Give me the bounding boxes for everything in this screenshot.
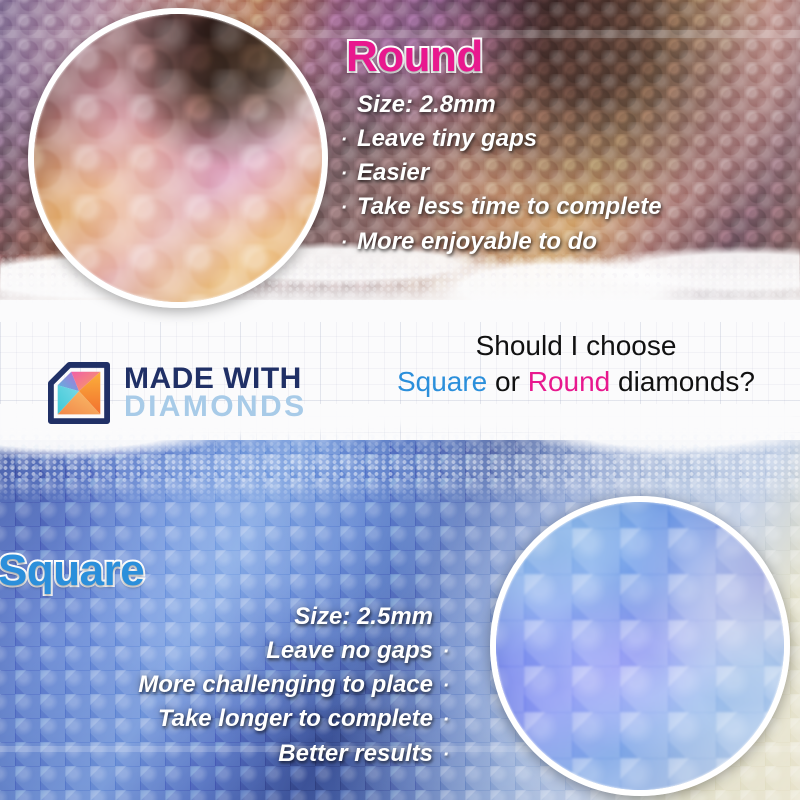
macro-blur-overlay (496, 502, 784, 790)
headline-question: Should I choose Square or Round diamonds… (352, 328, 800, 401)
bullet-icon: · (442, 745, 450, 765)
brand-name-line1: MADE WITH (124, 365, 307, 393)
bullet-icon: · (442, 642, 450, 662)
list-item: · Take less time to complete (340, 190, 790, 224)
square-feature-label: Better results (278, 737, 433, 771)
bullet-icon: · (340, 130, 348, 150)
list-item: · Leave tiny gaps (340, 122, 790, 156)
round-feature-label: Take less time to complete (357, 190, 662, 224)
square-size-row: Size: 2.5mm · (0, 600, 450, 634)
bullet-icon: · (442, 710, 450, 730)
bullet-icon: · (340, 198, 348, 218)
bullet-icon: · (442, 676, 450, 696)
square-size-label: Size: 2.5mm (294, 600, 433, 634)
headline-line1: Should I choose (352, 328, 800, 364)
round-feature-label: Easier (357, 156, 429, 190)
list-item: Take longer to complete · (0, 702, 450, 736)
round-drill-closeup-inset (28, 8, 328, 308)
headline-round-word: Round (528, 366, 611, 397)
square-drill-closeup-inset (490, 496, 790, 796)
round-section: Round · Size: 2.8mm · Leave tiny gaps · … (340, 34, 790, 259)
brand-logo: MADE WITH DIAMONDS (48, 362, 307, 424)
brand-name-line2: DIAMONDS (124, 393, 307, 421)
round-feature-label: More enjoyable to do (357, 225, 597, 259)
diamond-painting-comparison-infographic: Round · Size: 2.8mm · Leave tiny gaps · … (0, 0, 800, 800)
round-size-row: · Size: 2.8mm (340, 88, 790, 122)
headline-tail: diamonds? (610, 366, 755, 397)
square-feature-label: Leave no gaps (266, 634, 433, 668)
round-size-label: Size: 2.8mm (357, 88, 496, 122)
list-item: · Easier (340, 156, 790, 190)
list-item: Better results · (0, 737, 450, 771)
macro-blur-overlay (34, 14, 322, 302)
square-feature-label: More challenging to place (138, 668, 433, 702)
square-feature-list: Size: 2.5mm · Leave no gaps · More chall… (0, 600, 450, 770)
square-feature-label: Take longer to complete (158, 702, 433, 736)
square-section: Square Size: 2.5mm · Leave no gaps · Mor… (0, 548, 450, 771)
list-item: Leave no gaps · (0, 634, 450, 668)
list-item: More challenging to place · (0, 668, 450, 702)
round-feature-list: · Size: 2.8mm · Leave tiny gaps · Easier… (340, 88, 790, 258)
list-item: · More enjoyable to do (340, 225, 790, 259)
diamond-gem-icon (48, 362, 110, 424)
headline-square-word: Square (397, 366, 487, 397)
bullet-icon: · (340, 164, 348, 184)
headline-line2: Square or Round diamonds? (352, 364, 800, 400)
bullet-icon: · (340, 233, 348, 253)
headline-conjunction: or (487, 366, 527, 397)
round-feature-label: Leave tiny gaps (357, 122, 537, 156)
brand-wordmark: MADE WITH DIAMONDS (124, 365, 307, 421)
round-section-title: Round (346, 34, 790, 80)
square-section-title: Square (0, 548, 450, 594)
